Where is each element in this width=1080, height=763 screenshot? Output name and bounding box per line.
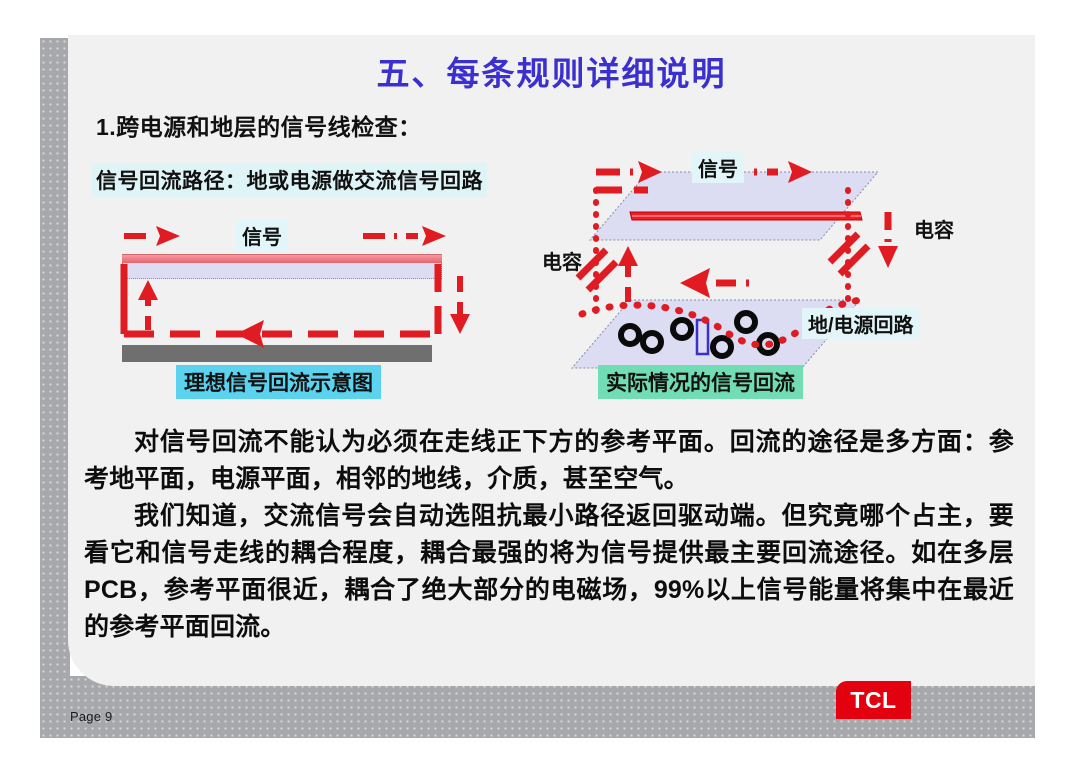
left-arrowhead-down — [450, 314, 470, 334]
caption-ideal-return: 理想信号回流示意图 — [176, 365, 381, 399]
capacitor-arrow-down — [878, 246, 898, 268]
body-paragraph-1: 对信号回流不能认为必须在走线正下方的参考平面。回流的途径是多方面：参考地平面，电… — [84, 424, 1014, 498]
tcl-logo: TCL — [836, 681, 911, 719]
body-text: 对信号回流不能认为必须在走线正下方的参考平面。回流的途径是多方面：参考地平面，电… — [84, 424, 1014, 646]
capacitor-symbol-right — [830, 234, 868, 274]
left-arrowhead-out — [422, 226, 446, 246]
return-arrow-left — [680, 268, 710, 298]
body-paragraph-2: 我们知道，交流信号会自动选阻抗最小路径返回驱动端。但究竟哪个占主，要看它和信号走… — [84, 498, 1014, 646]
left-arrowhead-up — [138, 280, 158, 300]
left-arrowhead-return — [236, 320, 264, 348]
slide-canvas: 五、每条规则详细说明 1.跨电源和地层的信号线检查： 信号回流路径：地或电源做交… — [0, 0, 1080, 763]
actual-return-diagram: 信号 电容 电容 地/电源回路 — [530, 150, 1030, 400]
caption-actual-return: 实际情况的信号回流 — [598, 365, 803, 399]
capacitor-right-label: 电容 — [908, 213, 960, 244]
page-number: Page 9 — [70, 709, 112, 724]
tcl-logo-text: TCL — [850, 687, 896, 714]
reflow-path-note: 信号回流路径：地或电源做交流信号回路 — [92, 163, 487, 197]
section-subtitle: 1.跨电源和地层的信号线检查： — [96, 108, 422, 142]
capacitor-left-label: 电容 — [536, 245, 588, 276]
left-arrowhead-in — [156, 226, 180, 246]
actual-return-diagram-svg — [530, 150, 1030, 400]
frame-band-left — [40, 38, 70, 738]
page-title: 五、每条规则详细说明 — [68, 47, 1035, 95]
right-signal-label: 信号 — [692, 152, 744, 183]
return-arrow-up — [618, 246, 638, 266]
ground-power-return-label: 地/电源回路 — [802, 308, 920, 339]
